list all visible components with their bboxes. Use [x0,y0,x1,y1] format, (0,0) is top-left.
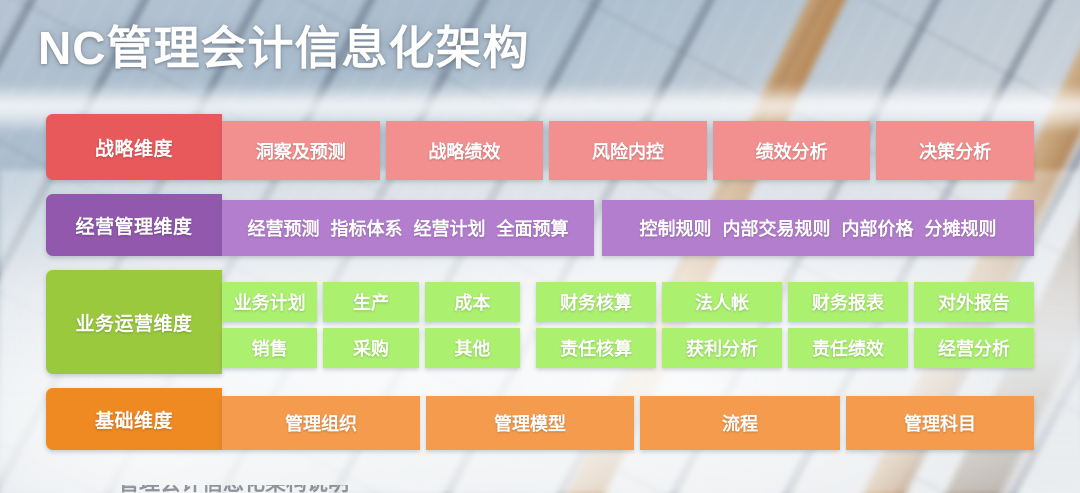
row-foundation: 基础维度 管理组织 管理模型 流程 管理科目 [46,388,1034,450]
panel-item-control-rule[interactable]: 控制规则 [640,215,712,241]
cell-cost[interactable]: 成本 [425,282,520,322]
row-body-business-operations: 业务计划 生产 成本 销售 采购 其他 财务核算 法人帐 财务报表 对外报告 责… [222,270,1034,374]
panel-item-internal-price[interactable]: 内部价格 [842,215,914,241]
cell-management-model[interactable]: 管理模型 [426,396,634,450]
row-body-foundation: 管理组织 管理模型 流程 管理科目 [222,388,1034,450]
cell-strategy-3[interactable]: 绩效分析 [713,121,871,180]
panel-planning-rules[interactable]: 经营预测 指标体系 经营计划 全面预算 [222,200,594,256]
panel-item-allocation-rule[interactable]: 分摊规则 [925,215,997,241]
cell-financial-statements[interactable]: 财务报表 [788,282,908,322]
panel-item-indicator-system[interactable]: 指标体系 [331,215,403,241]
panel-item-internal-transaction-rule[interactable]: 内部交易规则 [723,215,831,241]
cell-sales[interactable]: 销售 [222,328,317,368]
panel-item-business-plan[interactable]: 经营计划 [414,215,486,241]
bottom-cropped-caption: 管理会计信息化架构说明 [0,485,1080,493]
row-label-operating-management[interactable]: 经营管理维度 [46,194,222,256]
cell-legal-entity-account[interactable]: 法人帐 [662,282,782,322]
cell-strategy-4[interactable]: 决策分析 [876,121,1034,180]
row-label-foundation[interactable]: 基础维度 [46,388,222,450]
cell-profitability-analysis[interactable]: 获利分析 [662,328,782,368]
cell-financial-accounting[interactable]: 财务核算 [536,282,656,322]
cell-strategy-1[interactable]: 战略绩效 [386,121,544,180]
cell-production[interactable]: 生产 [323,282,418,322]
row-strategy: 战略维度 洞察及预测 战略绩效 风险内控 绩效分析 决策分析 [46,114,1034,180]
row-label-business-operations[interactable]: 业务运营维度 [46,270,222,374]
page-title: NC管理会计信息化架构 [38,22,529,75]
panel-item-forecast[interactable]: 经营预测 [248,215,320,241]
cell-strategy-2[interactable]: 风险内控 [549,121,707,180]
cell-other[interactable]: 其他 [425,328,520,368]
cell-procurement[interactable]: 采购 [323,328,418,368]
cell-strategy-0[interactable]: 洞察及预测 [222,121,380,180]
group-finance-modules: 财务核算 法人帐 财务报表 对外报告 责任核算 获利分析 责任绩效 经营分析 [536,282,1034,368]
cell-external-report[interactable]: 对外报告 [914,282,1034,322]
bottom-cropped-caption-text: 管理会计信息化架构说明 [118,485,349,493]
row-body-strategy: 洞察及预测 战略绩效 风险内控 绩效分析 决策分析 [222,114,1034,180]
panel-item-comprehensive-budget[interactable]: 全面预算 [497,215,569,241]
row-operating-management: 经营管理维度 经营预测 指标体系 经营计划 全面预算 控制规则 内部交易规则 内… [46,194,1034,256]
panel-control-rules[interactable]: 控制规则 内部交易规则 内部价格 分摊规则 [602,200,1034,256]
cell-business-plan[interactable]: 业务计划 [222,282,317,322]
architecture-diagram: 战略维度 洞察及预测 战略绩效 风险内控 绩效分析 决策分析 经营管理维度 经营… [46,114,1034,464]
cell-responsibility-accounting[interactable]: 责任核算 [536,328,656,368]
cell-process[interactable]: 流程 [640,396,840,450]
cell-management-subject[interactable]: 管理科目 [846,396,1034,450]
cell-operating-analysis[interactable]: 经营分析 [914,328,1034,368]
group-business-modules: 业务计划 生产 成本 销售 采购 其他 [222,282,520,368]
cell-management-organization[interactable]: 管理组织 [222,396,420,450]
row-business-operations: 业务运营维度 业务计划 生产 成本 销售 采购 其他 财务核算 法人帐 财务报表… [46,270,1034,374]
row-label-strategy[interactable]: 战略维度 [46,114,222,180]
slide-canvas: NC管理会计信息化架构 战略维度 洞察及预测 战略绩效 风险内控 绩效分析 决策… [0,0,1080,493]
row-body-operating-management: 经营预测 指标体系 经营计划 全面预算 控制规则 内部交易规则 内部价格 分摊规… [222,194,1034,256]
cell-responsibility-performance[interactable]: 责任绩效 [788,328,908,368]
